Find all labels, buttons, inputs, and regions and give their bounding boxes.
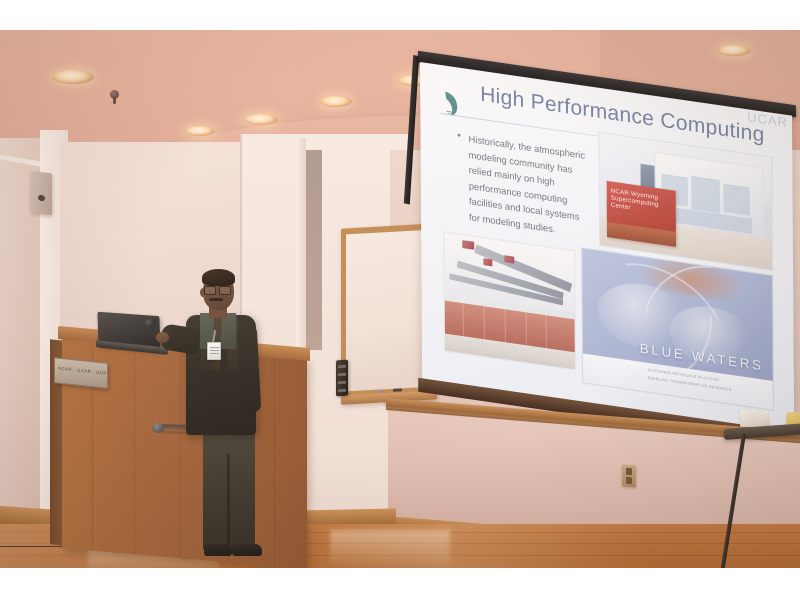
- recessed-downlight: [244, 114, 278, 125]
- presenter-hand: [156, 332, 169, 343]
- wood-grain: [274, 357, 275, 567]
- wood-grain: [134, 344, 135, 554]
- recessed-downlight: [717, 45, 751, 56]
- wood-grain: [180, 348, 181, 558]
- wall-outlet: [622, 464, 636, 487]
- recessed-downlight: [320, 96, 352, 107]
- floor-reflection: [330, 530, 450, 568]
- slide-bullet-text: Historically, the atmospheric modeling c…: [468, 131, 591, 242]
- slide-image-datacenter: [443, 231, 576, 370]
- recessed-downlight: [185, 126, 215, 136]
- presentation-slide: UCAR High Performance Computing Historic…: [420, 62, 794, 434]
- nwsc-sign-label: NCAR Wyoming Supercomputing Center: [611, 187, 673, 217]
- ceiling-panel: [483, 258, 492, 266]
- presenter-legs: [203, 428, 255, 550]
- conference-photo: UCAR High Performance Computing Historic…: [0, 30, 800, 568]
- table-item-cup: [758, 412, 770, 427]
- building-window: [692, 176, 720, 213]
- wall-speaker-icon: [30, 171, 52, 216]
- presenter-name-badge: [207, 342, 221, 360]
- whiteboard-eraser: [393, 388, 402, 392]
- handheld-microphone-head: [152, 423, 164, 433]
- podium-plaque-label: NCAR · UCAR · UCP: [58, 366, 104, 376]
- eyeglasses-icon: [204, 286, 231, 293]
- whiteboard-marker: [377, 390, 384, 392]
- rack-divider: [525, 313, 526, 346]
- podium-plaque: NCAR · UCAR · UCP: [54, 357, 108, 389]
- presenter-hair: [202, 269, 235, 286]
- building-window: [724, 184, 750, 216]
- nwsc-sign: NCAR Wyoming Supercomputing Center: [607, 181, 676, 247]
- presenter-mustache: [209, 298, 223, 301]
- av-control-panel[interactable]: [336, 360, 348, 397]
- rack-divider: [463, 304, 464, 337]
- presenter-shoe: [232, 544, 262, 556]
- ceiling-panel: [462, 240, 474, 250]
- whiteboard-surface: [346, 230, 432, 392]
- bullet-dot-icon: [457, 133, 460, 136]
- slide-image-blue-waters: BLUE WATERS SUSTAINED PETASCALE IN ACTIO…: [581, 247, 774, 411]
- slide-image-nwsc-building: NCAR Wyoming Supercomputing Center: [598, 132, 773, 271]
- slide-bullet-label: Historically, the atmospheric modeling c…: [468, 133, 585, 234]
- sprinkler-head: [110, 90, 119, 99]
- rack-divider: [546, 316, 547, 349]
- recessed-downlight: [52, 70, 94, 84]
- presenter-shoe: [204, 544, 232, 556]
- screenshot-root: UCAR High Performance Computing Historic…: [0, 0, 800, 600]
- table-item-paper: [740, 410, 758, 427]
- rack-divider: [504, 310, 505, 343]
- rack-divider: [484, 307, 485, 340]
- trouser-seam: [227, 454, 230, 550]
